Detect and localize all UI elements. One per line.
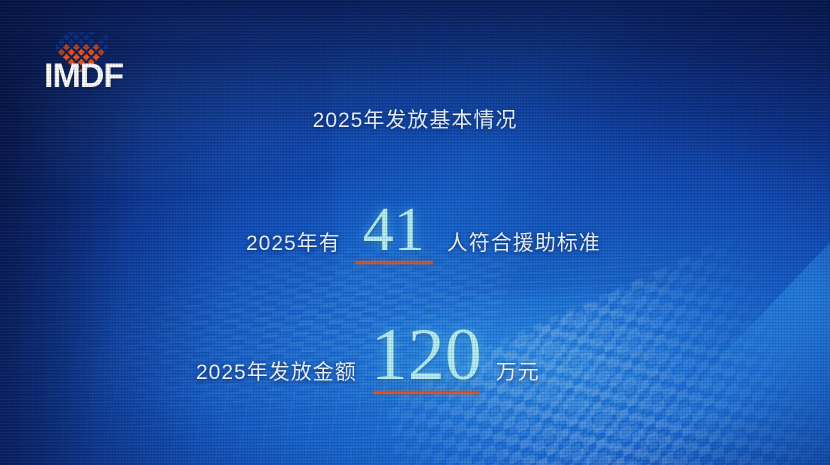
stat-value-group: 41 — [355, 205, 433, 264]
stat-label: 2025年发放金额 — [196, 356, 357, 386]
stat-value: 120 — [371, 325, 482, 386]
stat-unit: 万元 — [496, 356, 540, 386]
stat-unit: 人符合援助标准 — [447, 227, 601, 257]
presentation-slide: IMDF 2025年发放基本情况 2025年有 41 人符合援助标准 2025年… — [0, 0, 830, 465]
stat-disbursed-amount: 2025年发放金额 120 万元 — [196, 325, 540, 394]
stat-eligible-people: 2025年有 41 人符合援助标准 — [246, 205, 601, 264]
stat-value: 41 — [355, 205, 433, 256]
logo-wordmark: IMDF — [44, 59, 123, 93]
page-title: 2025年发放基本情况 — [0, 104, 830, 134]
stat-value-group: 120 — [371, 325, 482, 394]
stat-label: 2025年有 — [246, 227, 341, 257]
brand-logo: IMDF — [44, 32, 152, 100]
